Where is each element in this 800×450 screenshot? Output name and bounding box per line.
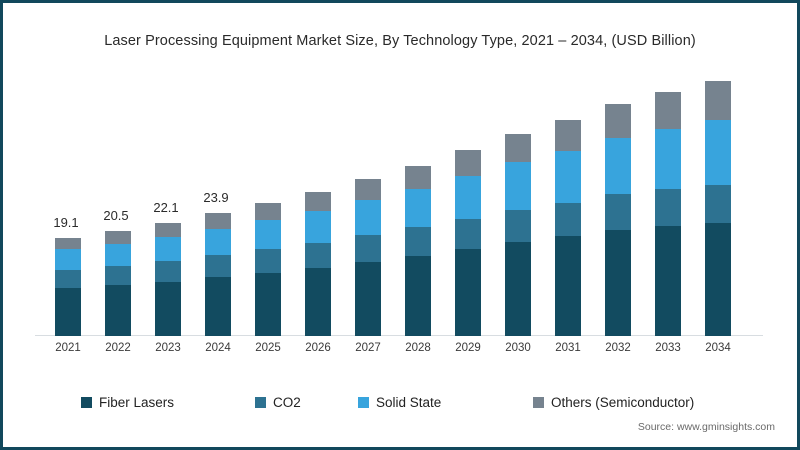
source-attribution: Source: www.gminsights.com <box>638 421 775 433</box>
bar-group: 2031 <box>543 69 593 336</box>
bar-segment-others[interactable] <box>55 238 81 249</box>
x-axis-tick-label: 2024 <box>193 342 243 354</box>
bar-group: 2025 <box>243 69 293 336</box>
stacked-bar[interactable] <box>355 179 381 336</box>
stacked-bar[interactable] <box>405 166 431 336</box>
x-axis-tick-label: 2030 <box>493 342 543 354</box>
bar-value-label: 23.9 <box>186 190 246 205</box>
bar-segment-others[interactable] <box>305 192 331 211</box>
legend-label: Fiber Lasers <box>99 395 174 410</box>
bar-segment-fiber[interactable] <box>105 285 131 336</box>
bar-group: 2034 <box>693 69 743 336</box>
x-axis-tick-label: 2026 <box>293 342 343 354</box>
legend-swatch-icon <box>358 397 369 408</box>
x-axis-tick-label: 2033 <box>643 342 693 354</box>
bar-segment-fiber[interactable] <box>55 288 81 336</box>
bar-segment-fiber[interactable] <box>305 268 331 336</box>
bar-segment-others[interactable] <box>405 166 431 189</box>
bar-segment-co2[interactable] <box>455 219 481 249</box>
plot-area: 19.1202120.5202222.1202323.9202420252026… <box>43 69 758 336</box>
bar-segment-fiber[interactable] <box>605 230 631 336</box>
bar-segment-others[interactable] <box>655 92 681 129</box>
bar-segment-others[interactable] <box>605 104 631 138</box>
legend-label: Others (Semiconductor) <box>551 395 694 410</box>
legend-swatch-icon <box>81 397 92 408</box>
chart-legend: Fiber LasersCO2Solid StateOthers (Semico… <box>81 395 721 415</box>
bar-group: 2028 <box>393 69 443 336</box>
bar-segment-solid[interactable] <box>505 162 531 209</box>
page-title: Laser Processing Equipment Market Size, … <box>3 33 797 49</box>
bar-segment-fiber[interactable] <box>405 256 431 336</box>
bar-segment-others[interactable] <box>455 150 481 176</box>
bar-segment-fiber[interactable] <box>255 273 281 336</box>
bar-segment-co2[interactable] <box>155 261 181 282</box>
stacked-bar[interactable] <box>555 120 581 336</box>
x-axis-tick-label: 2028 <box>393 342 443 354</box>
bar-segment-fiber[interactable] <box>455 249 481 336</box>
bar-segment-others[interactable] <box>155 223 181 237</box>
bar-segment-others[interactable] <box>705 81 731 120</box>
stacked-bar[interactable] <box>455 150 481 336</box>
bar-segment-fiber[interactable] <box>555 236 581 336</box>
bar-segment-others[interactable] <box>355 179 381 200</box>
legend-item-3[interactable]: Others (Semiconductor) <box>533 395 694 410</box>
bar-segment-co2[interactable] <box>255 249 281 273</box>
legend-item-2[interactable]: Solid State <box>358 395 441 410</box>
bar-segment-co2[interactable] <box>655 189 681 226</box>
stacked-bar[interactable] <box>155 223 181 336</box>
bar-segment-solid[interactable] <box>605 138 631 194</box>
bar-segment-fiber[interactable] <box>505 242 531 336</box>
bar-group: 19.12021 <box>43 69 93 336</box>
x-axis-tick-label: 2034 <box>693 342 743 354</box>
x-axis-tick-label: 2031 <box>543 342 593 354</box>
legend-label: CO2 <box>273 395 301 410</box>
bar-segment-co2[interactable] <box>355 235 381 262</box>
bar-segment-solid[interactable] <box>355 200 381 235</box>
bar-segment-co2[interactable] <box>555 203 581 237</box>
bar-group: 2029 <box>443 69 493 336</box>
bar-segment-solid[interactable] <box>705 120 731 184</box>
bar-segment-others[interactable] <box>105 231 131 244</box>
bar-group: 2033 <box>643 69 693 336</box>
stacked-bar[interactable] <box>505 134 531 336</box>
x-axis-tick-label: 2023 <box>143 342 193 354</box>
bar-group: 2032 <box>593 69 643 336</box>
bar-segment-others[interactable] <box>205 213 231 229</box>
bar-segment-co2[interactable] <box>705 185 731 223</box>
stacked-bar[interactable] <box>205 213 231 336</box>
chart-frame: Laser Processing Equipment Market Size, … <box>0 0 800 450</box>
x-axis-tick-label: 2029 <box>443 342 493 354</box>
bar-segment-others[interactable] <box>555 120 581 151</box>
bar-segment-co2[interactable] <box>205 255 231 277</box>
bar-segment-solid[interactable] <box>55 249 81 270</box>
x-axis-tick-label: 2032 <box>593 342 643 354</box>
bar-segment-solid[interactable] <box>105 244 131 266</box>
legend-item-0[interactable]: Fiber Lasers <box>81 395 174 410</box>
bar-segment-solid[interactable] <box>205 229 231 255</box>
legend-label: Solid State <box>376 395 441 410</box>
bar-segment-co2[interactable] <box>405 227 431 256</box>
legend-swatch-icon <box>255 397 266 408</box>
bar-segment-fiber[interactable] <box>655 226 681 336</box>
bar-group: 2030 <box>493 69 543 336</box>
bar-group: 2026 <box>293 69 343 336</box>
bar-segment-others[interactable] <box>505 134 531 163</box>
stacked-bar[interactable] <box>655 92 681 336</box>
bar-segment-fiber[interactable] <box>205 277 231 336</box>
bar-segment-others[interactable] <box>255 203 281 220</box>
x-axis-tick-label: 2021 <box>43 342 93 354</box>
stacked-bar[interactable] <box>55 238 81 336</box>
x-axis-tick-label: 2022 <box>93 342 143 354</box>
bar-segment-co2[interactable] <box>55 270 81 288</box>
bar-segment-solid[interactable] <box>655 129 681 190</box>
stacked-bar[interactable] <box>105 231 131 336</box>
bar-segment-solid[interactable] <box>155 237 181 261</box>
stacked-bar[interactable] <box>605 104 631 336</box>
bar-segment-co2[interactable] <box>105 266 131 286</box>
bar-segment-fiber[interactable] <box>155 282 181 336</box>
bar-segment-solid[interactable] <box>455 176 481 219</box>
bar-segment-solid[interactable] <box>255 220 281 249</box>
legend-item-1[interactable]: CO2 <box>255 395 301 410</box>
bar-segment-solid[interactable] <box>555 151 581 202</box>
bar-segment-co2[interactable] <box>505 210 531 242</box>
bar-segment-co2[interactable] <box>305 243 331 268</box>
bar-segment-fiber[interactable] <box>705 223 731 336</box>
bar-group: 2027 <box>343 69 393 336</box>
stacked-bar[interactable] <box>705 81 731 336</box>
bar-segment-fiber[interactable] <box>355 262 381 336</box>
bar-segment-co2[interactable] <box>605 194 631 230</box>
bar-group: 23.92024 <box>193 69 243 336</box>
bar-segment-solid[interactable] <box>305 211 331 243</box>
stacked-bar[interactable] <box>255 203 281 336</box>
bar-segment-solid[interactable] <box>405 189 431 228</box>
x-axis-tick-label: 2027 <box>343 342 393 354</box>
x-axis-tick-label: 2025 <box>243 342 293 354</box>
stacked-bar[interactable] <box>305 192 331 336</box>
legend-swatch-icon <box>533 397 544 408</box>
